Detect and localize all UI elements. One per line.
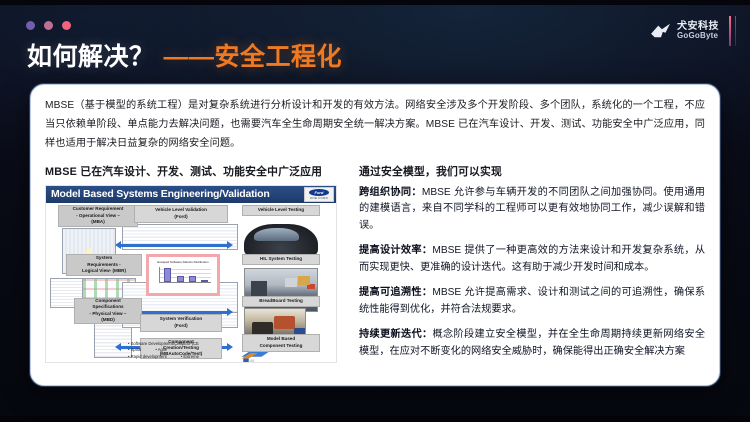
mini-chart-title: Escaped Software Defects Distribution xyxy=(151,260,215,264)
benefit-item: 提高设计效率：MBSE 提供了一种更高效的方法来设计和开发复杂系统，从而实现更快… xyxy=(359,243,705,276)
right-column: 通过安全模型，我们可以实现 跨组织协同：MBSE 允许参与车辆开发的不同团队之间… xyxy=(359,163,705,361)
mbse-diagram-image: Model Based Systems Engineering/Validati… xyxy=(45,185,337,363)
footnote-rapid-development: Rapid development xyxy=(128,354,167,360)
brand-accent-bars xyxy=(729,16,736,46)
vehicle-photo xyxy=(244,224,318,258)
dot-mauve-icon xyxy=(44,21,53,30)
dot-purple-icon xyxy=(26,21,35,30)
box-hil-system-testing: HIL System Testing xyxy=(242,254,320,265)
intro-paragraph: MBSE（基于模型的系统工程）是对复杂系统进行分析设计和开发的有效方法。网络安全… xyxy=(45,97,705,154)
slide-title-accent: ——安全工程化 xyxy=(164,37,343,73)
brand-logo: 犬安科技 GoGoByte xyxy=(650,16,736,46)
left-column-heading: MBSE 已在汽车设计、开发、测试、功能安全中广泛应用 xyxy=(45,163,345,179)
box-breadboard-testing: BreadBoard Testing xyxy=(242,296,320,307)
ford-logo-icon: Ford ONE FORD xyxy=(304,187,334,202)
content-card: MBSE（基于模型的系统工程）是对复杂系统进行分析设计和开发的有效方法。网络安全… xyxy=(30,84,720,386)
mini-chart-bar xyxy=(177,276,184,282)
box-model-based-component-testing: Model BasedComponent Testing xyxy=(242,334,320,352)
slide-title-main: 如何解决？ xyxy=(27,37,155,73)
benefit-text: 跨组织协同：MBSE 允许参与车辆开发的不同团队之间加强协同。使用通用的建模语言… xyxy=(359,185,705,235)
escaped-defects-chart: Escaped Software Defects Distribution xyxy=(146,254,220,296)
mini-chart-bar xyxy=(201,280,208,282)
mini-chart: Escaped Software Defects Distribution xyxy=(151,259,215,291)
left-column: MBSE 已在汽车设计、开发、测试、功能安全中广泛应用 Model Based … xyxy=(45,163,345,363)
brand-bar-pink xyxy=(729,16,731,46)
diagram-footnotes: Software Development/CMMi/SPICE Spiral A… xyxy=(128,341,199,359)
benefit-lead: 提高设计效率： xyxy=(359,245,432,256)
mini-chart-bar xyxy=(189,276,196,281)
two-column-body: MBSE 已在汽车设计、开发、测试、功能安全中广泛应用 Model Based … xyxy=(45,163,705,363)
box-system-requirements: SystemRequirements -Logical View- (MBR) xyxy=(66,254,142,276)
benefit-item: 持续更新迭代：概念阶段建立安全模型，并在全生命周期持续更新网络安全模型，在应对不… xyxy=(359,327,705,360)
box-component-specifications: ComponentSpecifications- Physical View –… xyxy=(74,298,142,324)
diagram-title: Model Based Systems Engineering/Validati… xyxy=(46,188,270,200)
dot-pink-icon xyxy=(62,21,71,30)
arrow-vehicle-level xyxy=(120,244,228,247)
benefit-lead: 持续更新迭代： xyxy=(359,329,432,340)
brand-bar-grey xyxy=(735,16,737,46)
footnote-extreme: Extreme xyxy=(181,354,199,360)
slide-background: 如何解决？ ——安全工程化 犬安科技 GoGoByte MBSE（基于模型的系统… xyxy=(0,0,750,422)
box-vehicle-level-validation: Vehicle Level Validation(Ford) xyxy=(134,205,228,223)
benefit-item: 提高可追溯性：MBSE 允许提高需求、设计和测试之间的可追溯性，确保系统性能得到… xyxy=(359,285,705,318)
benefit-text: 提高设计效率：MBSE 提供了一种更高效的方法来设计和开发复杂系统，从而实现更快… xyxy=(359,243,705,276)
slide-title: 如何解决？ ——安全工程化 xyxy=(27,37,342,73)
benefit-item: 跨组织协同：MBSE 允许参与车辆开发的不同团队之间加强协同。使用通用的建模语言… xyxy=(359,185,705,235)
ford-logo-word: Ford xyxy=(309,189,329,196)
ford-logo-sub: ONE FORD xyxy=(310,196,328,200)
mini-chart-bar xyxy=(164,268,171,282)
box-customer-requirement: Customer Requirement- Operational View –… xyxy=(58,205,138,227)
benefit-text: 持续更新迭代：概念阶段建立安全模型，并在全生命周期持续更新网络安全模型，在应对不… xyxy=(359,327,705,360)
brand-text: 犬安科技 GoGoByte xyxy=(677,22,719,41)
benefit-lead: 提高可追溯性： xyxy=(359,287,432,298)
brand-name-en: GoGoByte xyxy=(677,32,719,40)
dog-head-icon xyxy=(650,22,672,40)
benefit-text: 提高可追溯性：MBSE 允许提高需求、设计和测试之间的可追溯性，确保系统性能得到… xyxy=(359,285,705,318)
box-system-verification: System Verification(Ford) xyxy=(140,314,222,332)
benefit-lead: 跨组织协同： xyxy=(359,187,422,198)
mini-chart-plot xyxy=(159,267,211,283)
box-vehicle-level-testing: Vehicle Level Testing xyxy=(242,205,320,216)
right-column-heading: 通过安全模型，我们可以实现 xyxy=(359,163,705,179)
diagram-title-bar: Model Based Systems Engineering/Validati… xyxy=(46,186,337,203)
window-dots xyxy=(26,21,71,30)
